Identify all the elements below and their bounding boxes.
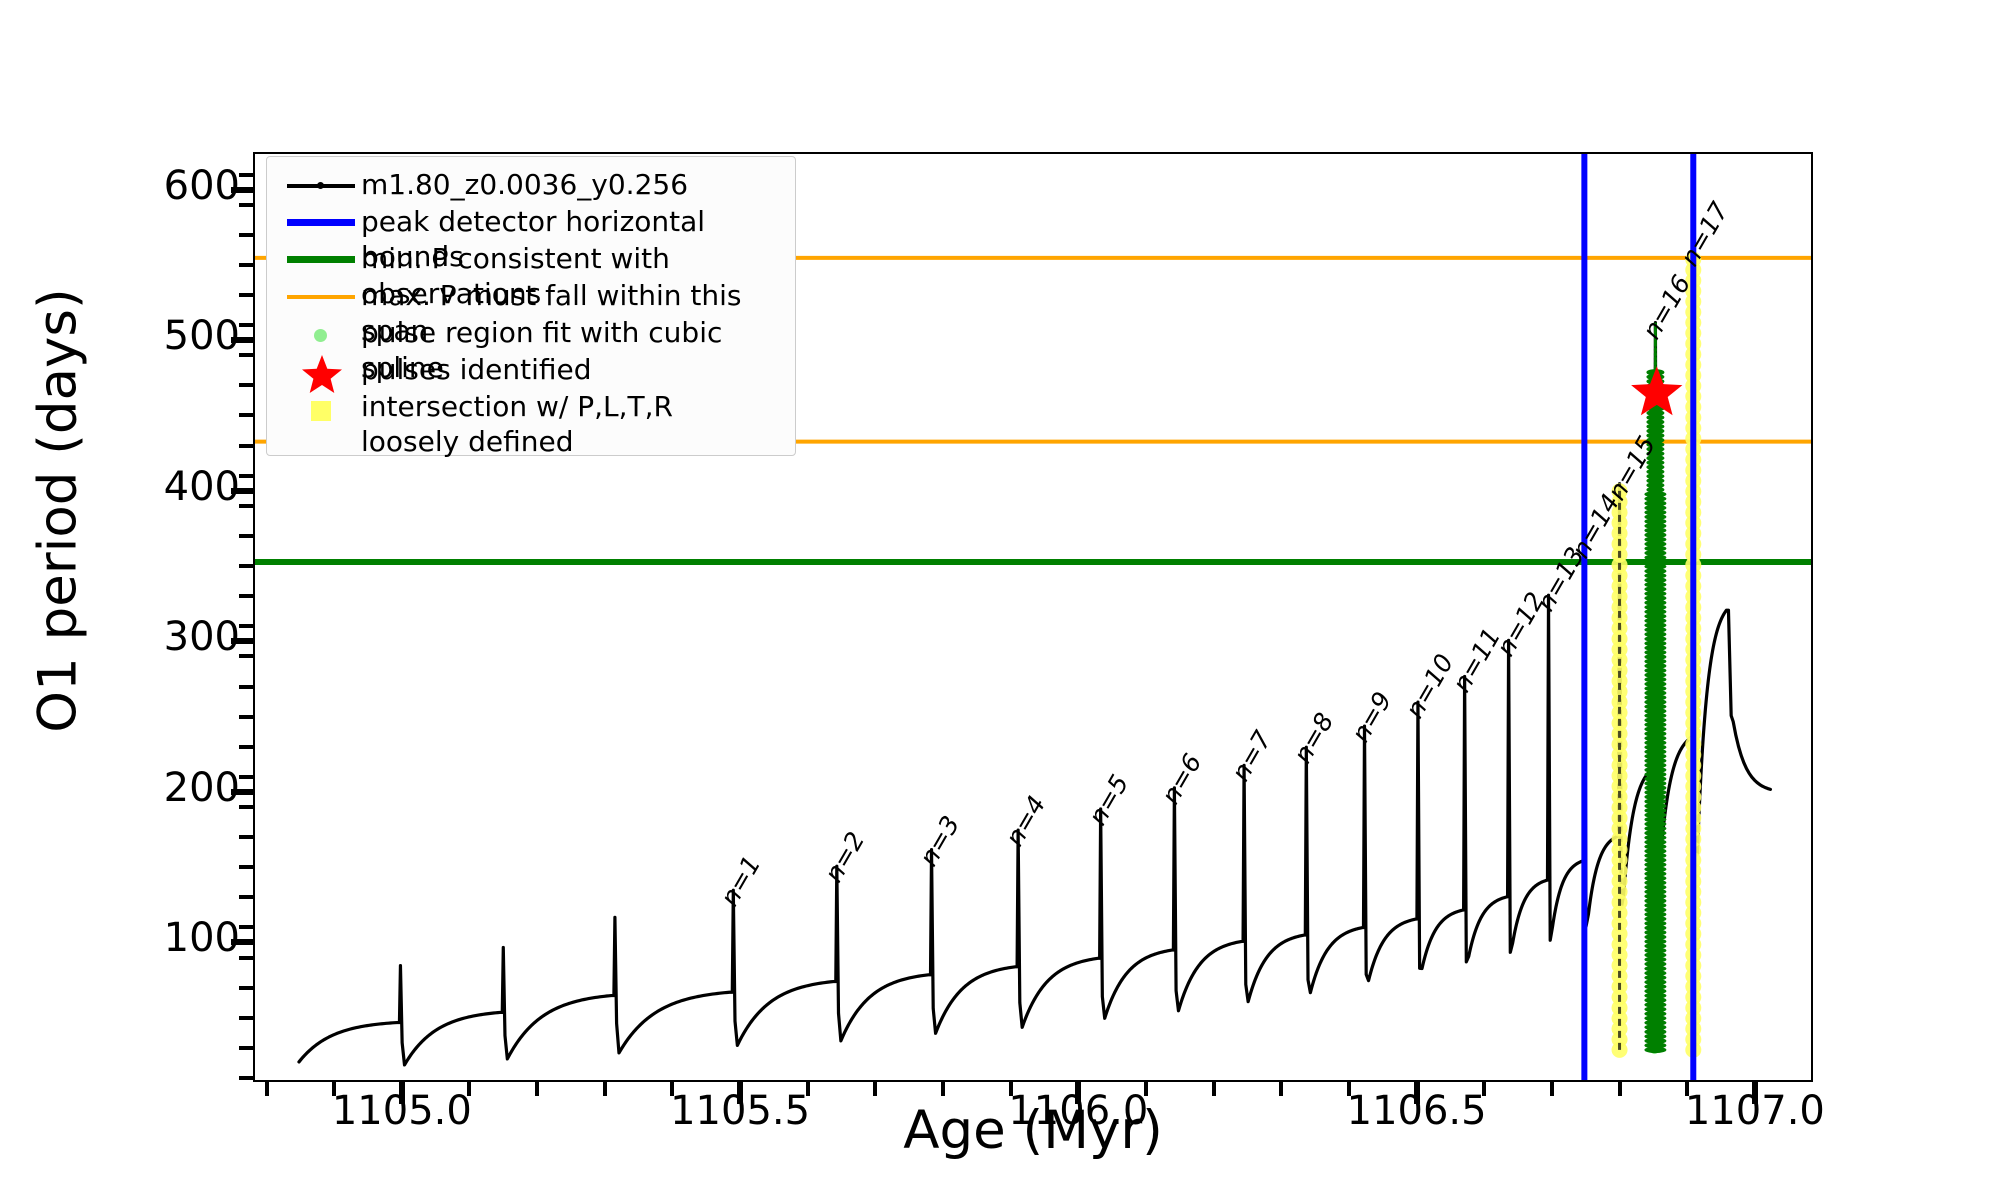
- y-tick-label: 400: [40, 464, 240, 510]
- y-tick-minor: [239, 203, 253, 207]
- x-tick-minor: [873, 1082, 877, 1096]
- legend-key-line-icon: [283, 278, 361, 315]
- legend-key-dot-icon: [283, 315, 361, 352]
- y-tick-minor: [239, 413, 253, 417]
- legend-line-swatch: [287, 295, 355, 299]
- x-tick-minor: [941, 1082, 945, 1096]
- x-tick-label: 1107.0: [1625, 1088, 1885, 1134]
- legend-item-1: peak detector horizontal bounds: [283, 204, 779, 241]
- x-tick-label: 1106.0: [948, 1088, 1208, 1134]
- x-tick-minor: [1212, 1082, 1216, 1096]
- y-tick-minor: [239, 925, 253, 929]
- y-tick-minor: [239, 1076, 253, 1080]
- legend-item-label: m1.80_z0.0036_y0.256: [361, 167, 688, 202]
- y-tick-label: 200: [40, 765, 240, 811]
- legend-square-swatch: [311, 401, 331, 421]
- y-tick-minor: [239, 474, 253, 478]
- y-tick-minor: [239, 173, 253, 177]
- legend: m1.80_z0.0036_y0.256peak detector horizo…: [266, 156, 796, 456]
- y-tick-label: 600: [40, 163, 240, 209]
- y-tick-minor: [239, 986, 253, 990]
- y-tick-minor: [239, 865, 253, 869]
- legend-key-square-icon: [283, 389, 361, 426]
- y-tick-minor: [239, 805, 253, 809]
- x-tick-label: 1106.5: [1287, 1088, 1547, 1134]
- y-tick-label: 500: [40, 313, 240, 359]
- x-tick-minor: [1618, 1082, 1622, 1096]
- figure-root: O1 period (days) Age (Myr) 1002003004005…: [0, 0, 2000, 1200]
- y-tick-minor: [239, 654, 253, 658]
- x-tick-minor: [1550, 1082, 1554, 1096]
- x-tick-minor: [265, 1082, 269, 1096]
- x-tick-label: 1105.5: [610, 1088, 870, 1134]
- y-tick-minor: [239, 835, 253, 839]
- y-tick-minor: [239, 685, 253, 689]
- y-tick-minor: [239, 263, 253, 267]
- y-tick-minor: [239, 1016, 253, 1020]
- y-tick-minor: [239, 1046, 253, 1050]
- legend-line-swatch: [287, 219, 355, 226]
- legend-marker-dot: [317, 182, 324, 189]
- y-tick-minor: [239, 353, 253, 357]
- legend-line-swatch: [287, 256, 355, 263]
- legend-key-line-thick-icon: [283, 204, 361, 241]
- legend-key-line-thick-icon: [283, 241, 361, 278]
- x-tick-minor: [1279, 1082, 1283, 1096]
- y-tick-minor: [239, 745, 253, 749]
- y-tick-minor: [239, 715, 253, 719]
- y-tick-minor: [239, 534, 253, 538]
- legend-item-3: max. P must fall within this span: [283, 278, 779, 315]
- y-tick-minor: [239, 504, 253, 508]
- legend-dot-swatch: [314, 329, 327, 342]
- legend-item-4: pulse region fit with cubic spline: [283, 315, 779, 352]
- y-tick-minor: [239, 895, 253, 899]
- y-tick-minor: [239, 564, 253, 568]
- y-tick-minor: [239, 444, 253, 448]
- y-tick-label: 300: [40, 614, 240, 660]
- x-tick-minor: [535, 1082, 539, 1096]
- legend-key-line-marker-icon: [283, 167, 361, 204]
- y-tick-minor: [239, 624, 253, 628]
- y-tick-minor: [239, 775, 253, 779]
- y-tick-minor: [239, 293, 253, 297]
- legend-item-6: intersection w/ P,L,T,R loosely defined: [283, 389, 779, 443]
- y-tick-minor: [239, 956, 253, 960]
- x-tick-label: 1105.0: [272, 1088, 532, 1134]
- y-tick-minor: [239, 383, 253, 387]
- legend-item-label: intersection w/ P,L,T,R loosely defined: [361, 389, 673, 459]
- pulse-cluster-point: [1654, 347, 1657, 353]
- y-tick-minor: [239, 233, 253, 237]
- y-tick-minor: [239, 594, 253, 598]
- y-tick-label: 100: [40, 915, 240, 961]
- legend-item-label: pulses identified: [361, 352, 592, 387]
- y-tick-minor: [239, 323, 253, 327]
- legend-item-0: m1.80_z0.0036_y0.256: [283, 167, 779, 204]
- legend-key-star-icon: [283, 352, 361, 389]
- x-tick-minor: [603, 1082, 607, 1096]
- legend-item-2: min. P consistent with observations: [283, 241, 779, 278]
